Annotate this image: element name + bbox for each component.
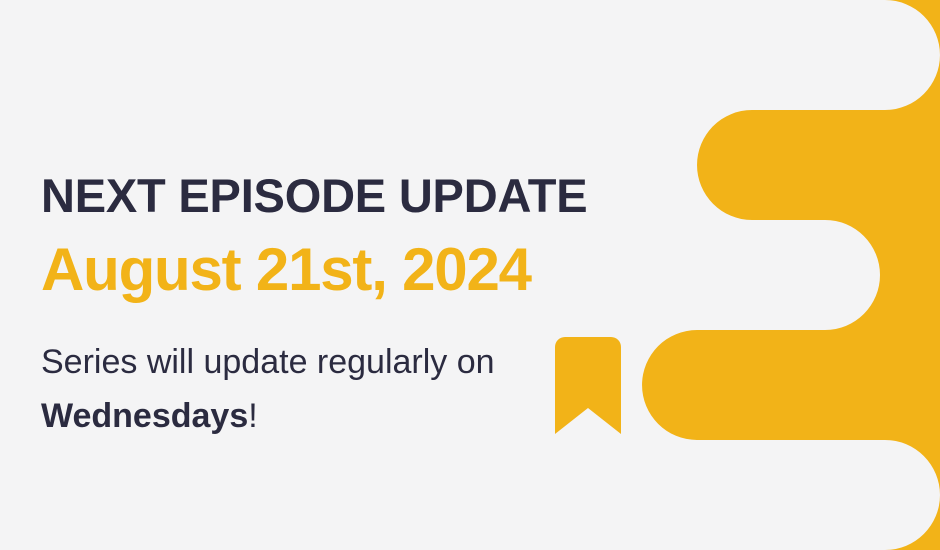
schedule-note-lead: Series will update regularly on — [41, 343, 495, 381]
banner-content: NEXT EPISODE UPDATE August 21st, 2024 Se… — [41, 0, 701, 550]
schedule-note: Series will update regularly on Wednesda… — [41, 336, 561, 443]
schedule-note-trail: ! — [248, 397, 257, 435]
schedule-note-day: Wednesdays — [41, 397, 248, 435]
page-title: NEXT EPISODE UPDATE — [41, 172, 587, 219]
episode-date: August 21st, 2024 — [41, 240, 531, 300]
next-episode-banner: NEXT EPISODE UPDATE August 21st, 2024 Se… — [0, 0, 940, 550]
bookmark-icon — [555, 337, 621, 434]
